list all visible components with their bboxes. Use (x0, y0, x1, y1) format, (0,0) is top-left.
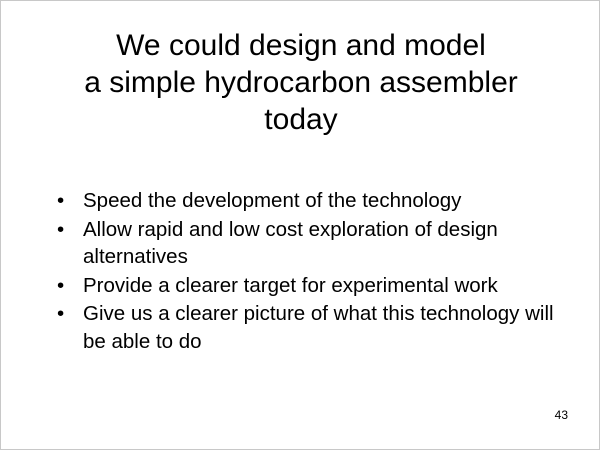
bullet-point-icon: • (57, 300, 64, 328)
bullet-list: • Speed the development of the technolog… (53, 187, 578, 356)
list-item-label: Give us a clearer picture of what this t… (83, 300, 578, 355)
list-item-label: Allow rapid and low cost exploration of … (83, 216, 578, 271)
list-item: • Give us a clearer picture of what this… (53, 300, 578, 355)
bullet-point-icon: • (57, 272, 64, 300)
list-item-label: Speed the development of the technology (83, 187, 578, 215)
page-title: We could design and model a simple hydro… (31, 27, 571, 138)
bullet-point-icon: • (57, 216, 64, 244)
page-number: 43 (555, 408, 568, 422)
list-item: • Speed the development of the technolog… (53, 187, 578, 215)
list-item: • Allow rapid and low cost exploration o… (53, 216, 578, 271)
list-item: • Provide a clearer target for experimen… (53, 272, 578, 300)
bullet-point-icon: • (57, 187, 64, 215)
list-item-label: Provide a clearer target for experimenta… (83, 272, 578, 300)
presentation-slide: We could design and model a simple hydro… (0, 0, 600, 450)
